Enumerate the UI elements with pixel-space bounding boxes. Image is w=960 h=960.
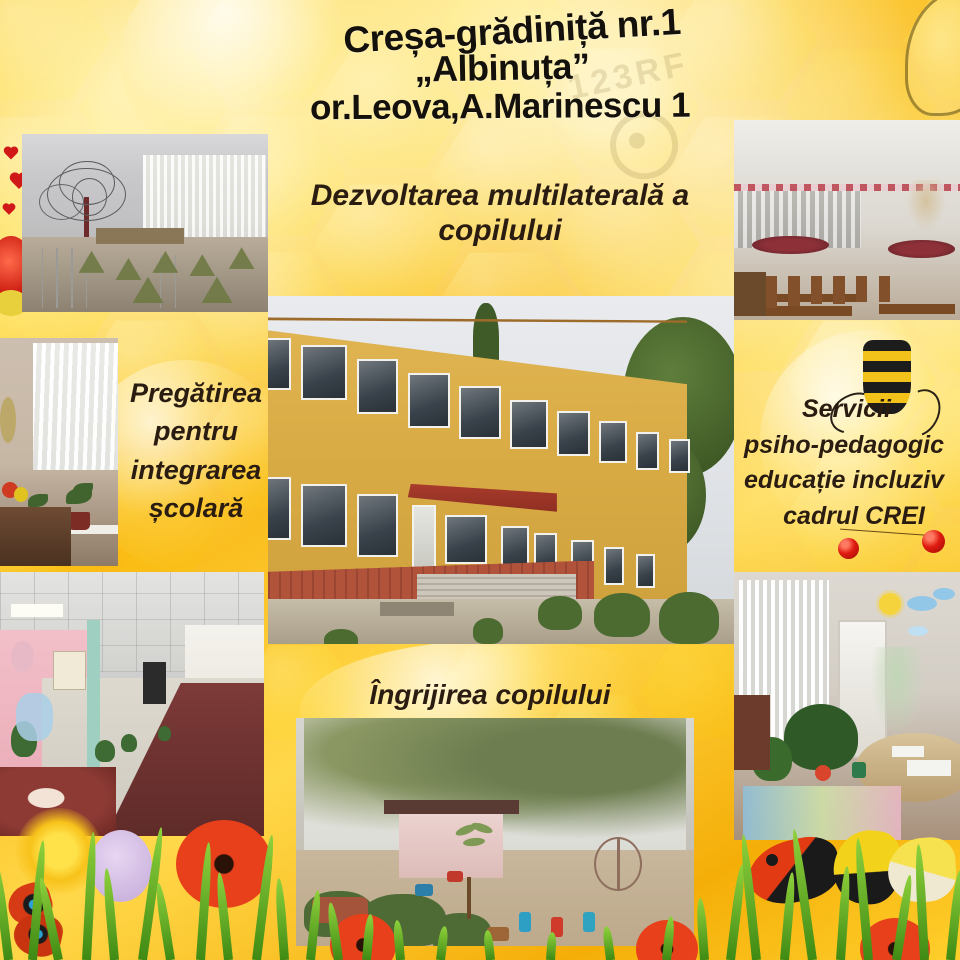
- bee-wing-icon: [905, 0, 960, 116]
- photo-corridor: [0, 572, 264, 836]
- slogan-school-preparation: Pregătirea pentru integrarea școlară: [106, 374, 286, 527]
- slogan-services-line-4: cadrul CREI: [744, 499, 960, 535]
- poster-canvas: 123RF: [0, 0, 960, 960]
- lilac-flower: [90, 830, 152, 902]
- slogan-services-line-1: Servicii: [744, 392, 960, 428]
- photo-playground: [296, 718, 694, 946]
- photo-music-hall: [734, 120, 960, 320]
- slogan-services: Servicii psiho-pedagogic educație incluz…: [744, 392, 960, 534]
- slogan-services-line-3: educație incluziv: [744, 466, 944, 494]
- title-line-3: or.Leova,A.Marinescu 1: [250, 87, 750, 128]
- poppy-flower-4: [860, 918, 930, 960]
- berry-left: [838, 538, 859, 559]
- climbing-sphere: [594, 837, 642, 891]
- photo-window-plants: [0, 338, 118, 566]
- slogan-development: Dezvoltarea multilaterală a copilului: [272, 178, 728, 249]
- photo-classroom: [734, 572, 960, 840]
- photo-main-building: [268, 296, 734, 644]
- butterfly-icon-left: [8, 880, 84, 960]
- butterfly-icon-right: [748, 828, 958, 938]
- slogan-services-line-2: psiho-pedagogic: [744, 431, 944, 459]
- photo-dormitory: [22, 134, 268, 312]
- slogan-child-care: Îngrijirea copilului: [330, 678, 650, 711]
- poster-title: Creșa-grădiniță nr.1 „Albinuța” or.Leova…: [250, 12, 750, 125]
